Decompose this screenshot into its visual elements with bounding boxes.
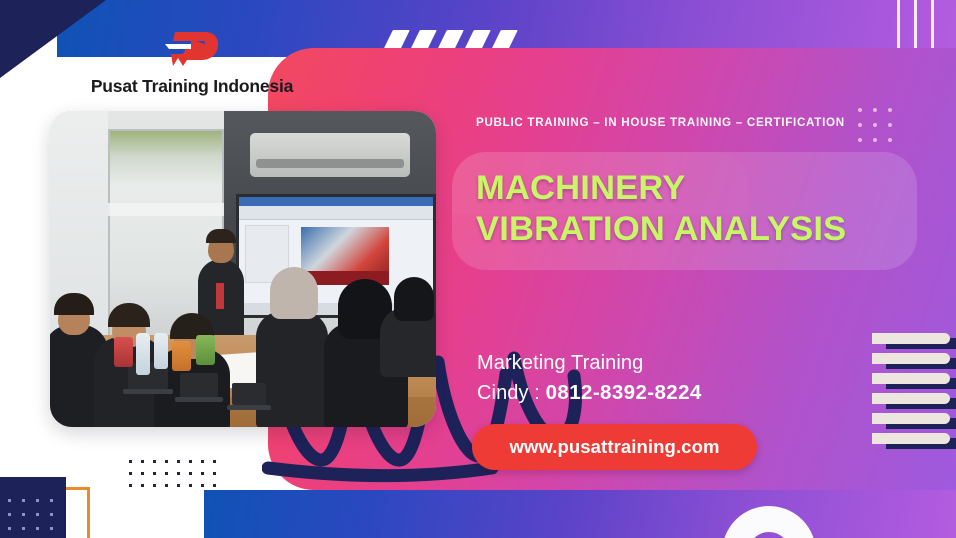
website-cta-button[interactable]: www.pusattraining.com (472, 424, 757, 470)
contact-phone[interactable]: 0812-8392-8224 (546, 381, 702, 404)
poster-canvas: Pusat Training Indonesia PUBLIC TRAINING… (0, 0, 956, 538)
brand-block: Pusat Training Indonesia (64, 28, 320, 97)
air-conditioner (250, 133, 410, 177)
kicker-text: PUBLIC TRAINING – IN HOUSE TRAINING – CE… (476, 116, 845, 129)
header-dot-grid (858, 108, 903, 153)
bottom-gradient-band (204, 490, 956, 538)
contact-block: Marketing Training Cindy : 0812-8392-822… (477, 349, 702, 408)
page-title: MACHINERY VIBRATION ANALYSIS (476, 168, 906, 250)
side-bar-decor (872, 332, 956, 452)
contact-person: Cindy : 0812-8392-8224 (477, 378, 702, 408)
arrow-p-logo-icon (161, 28, 223, 68)
training-room-photo (50, 111, 436, 427)
title-line-1: MACHINERY (476, 169, 685, 207)
navy-square-decor (0, 477, 66, 538)
website-url-label: www.pusattraining.com (509, 436, 719, 458)
navy-square-dots (0, 499, 64, 538)
contact-person-label: Cindy : (477, 382, 540, 404)
title-line-2: VIBRATION ANALYSIS (476, 209, 906, 250)
brand-name: Pusat Training Indonesia (64, 76, 320, 97)
contact-role: Marketing Training (477, 349, 702, 378)
bottom-left-dot-grid (129, 460, 225, 496)
vertical-line-decor (897, 0, 934, 54)
